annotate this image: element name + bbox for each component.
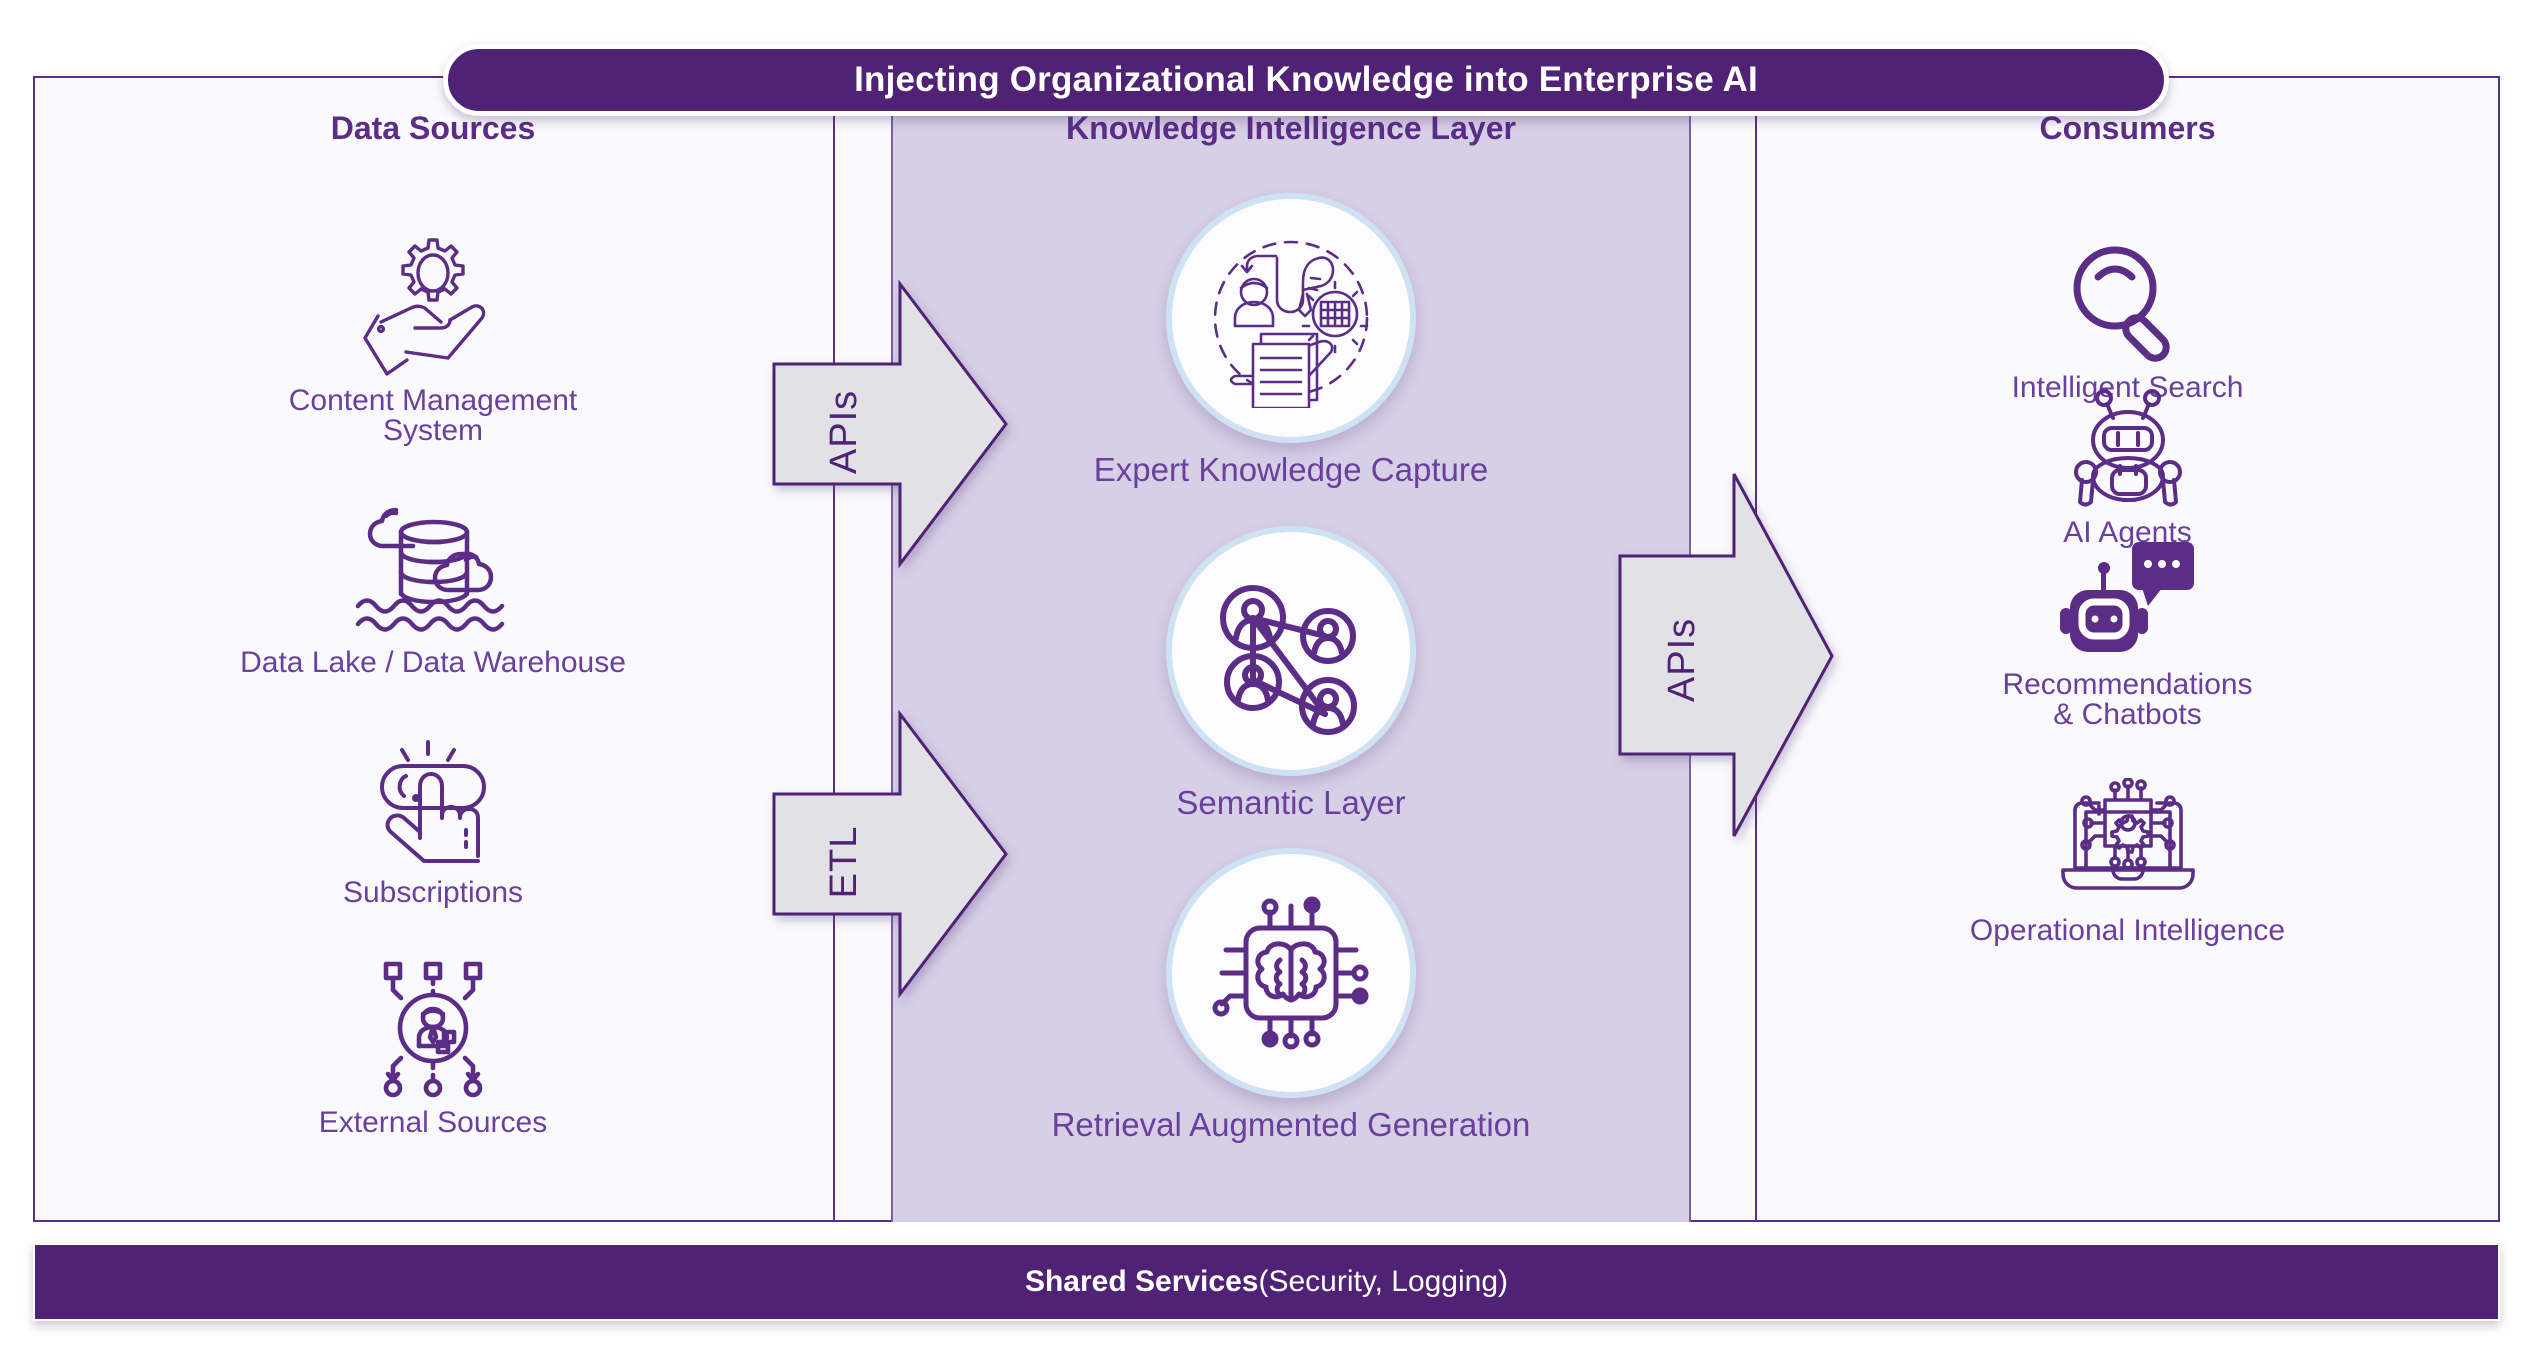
data-source-label-lake: Data Lake / Data Warehouse [240,648,626,678]
data-source-item-lake[interactable]: Data Lake / Data Warehouse [33,498,833,678]
laptop-gear-circuit-icon [2053,778,2203,906]
arrow-etl-ingest: ETL [770,710,1010,1000]
shared-services-bold-label: Shared Services [1025,1265,1258,1299]
consumer-item-intelligent-search[interactable]: Intelligent Search [1755,238,2500,403]
architecture-diagram: Injecting Organizational Knowledge into … [0,0,2533,1368]
consumer-item-ai-agents[interactable]: AI Agents [1755,388,2500,548]
data-source-label-external: External Sources [319,1108,547,1138]
person-network-nodes-icon [358,958,508,1098]
expert-capture-badge [1166,193,1416,443]
consumer-label-operational-intelligence: Operational Intelligence [1970,916,2285,946]
arrow-apis-ingest-label: APIs [823,390,865,474]
data-source-item-cms[interactable]: Content Management System [33,236,833,446]
knowledge-label-expert-capture: Expert Knowledge Capture [1094,451,1488,489]
data-source-item-external[interactable]: External Sources [33,958,833,1138]
database-lake-cloud-icon [348,498,518,638]
knowledge-item-expert-capture[interactable]: Expert Knowledge Capture [891,193,1691,489]
knowledge-item-semantic-layer[interactable]: Semantic Layer [891,526,1691,822]
knowledge-item-rag[interactable]: Retrieval Augmented Generation [891,848,1691,1144]
people-network-graph-icon [1206,566,1376,736]
arrow-apis-ingest: APIs [770,280,1010,570]
consumer-item-operational-intelligence[interactable]: Operational Intelligence [1755,778,2500,946]
data-source-item-subscriptions[interactable]: Subscriptions [33,738,833,908]
expert-knowledge-capture-icon [1201,228,1381,408]
magnifier-icon [2063,238,2193,363]
consumer-item-recommendations[interactable]: Recommendations & Chatbots [1755,540,2500,730]
semantic-layer-badge [1166,526,1416,776]
arrow-etl-ingest-label: ETL [823,826,865,899]
hand-holding-gear-icon [353,236,513,376]
shared-services-bar: Shared Services (Security, Logging) [33,1243,2500,1321]
diagram-title-banner: Injecting Organizational Knowledge into … [443,44,2169,116]
data-sources-column: Data Sources Content Mana [33,78,833,1221]
shared-services-detail-label: (Security, Logging) [1258,1265,1508,1299]
arrow-apis-serve: APIs [1616,470,1836,840]
robot-outline-icon [2068,388,2188,508]
data-source-label-subscriptions: Subscriptions [343,878,523,908]
knowledge-layer-column: Knowledge Intelligence Layer [891,78,1691,1221]
knowledge-label-semantic-layer: Semantic Layer [1176,784,1405,822]
tap-click-hand-icon [358,738,508,868]
diagram-title-text: Injecting Organizational Knowledge into … [854,60,1758,100]
knowledge-label-rag: Retrieval Augmented Generation [1052,1106,1531,1144]
chatbot-speech-bubble-icon [2058,540,2198,660]
consumers-column: Consumers Intelligent Search [1755,78,2500,1221]
data-source-label-cms: Content Management System [289,386,578,446]
consumer-label-recommendations: Recommendations & Chatbots [2002,670,2252,730]
arrow-apis-serve-label: APIs [1661,618,1703,702]
column-divider-left [833,76,835,1222]
brain-chip-icon [1206,888,1376,1058]
rag-badge [1166,848,1416,1098]
